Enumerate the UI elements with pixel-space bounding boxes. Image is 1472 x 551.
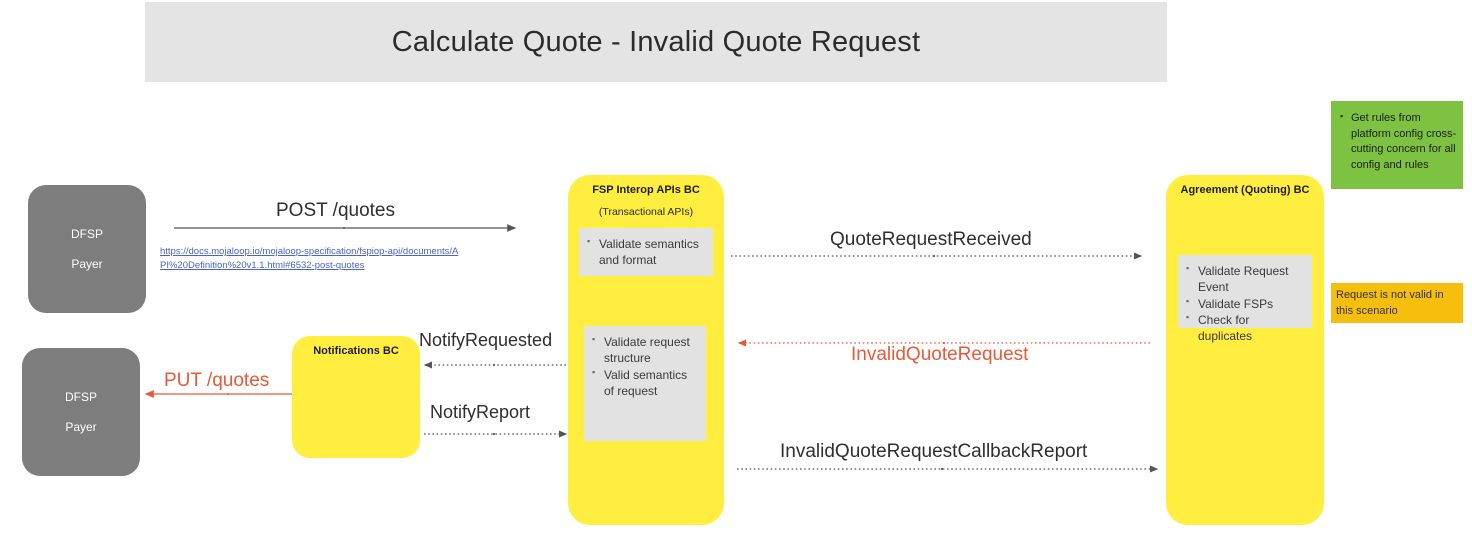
lane-subtitle: (Transactional APIs) bbox=[568, 206, 724, 218]
actor-label-line1: DFSP bbox=[65, 391, 97, 403]
lane-title: Agreement (Quoting) BC bbox=[1166, 184, 1324, 196]
arrow-label-put-quotes: PUT /quotes bbox=[164, 370, 269, 392]
diagram-canvas: Calculate Quote - Invalid Quote Request bbox=[0, 0, 1472, 551]
arrow-label-post-quotes: POST /quotes bbox=[276, 200, 395, 222]
note-item: Validate Request Event bbox=[1198, 263, 1306, 296]
arrow-quote-request-received bbox=[731, 255, 1141, 257]
note-item: Validate request structure bbox=[604, 334, 700, 367]
arrow-label-quote-request-received: QuoteRequestReceived bbox=[830, 229, 1032, 251]
page-title: Calculate Quote - Invalid Quote Request bbox=[392, 26, 920, 59]
note-item: Check for duplicates bbox=[1198, 312, 1306, 345]
title-banner: Calculate Quote - Invalid Quote Request bbox=[145, 2, 1167, 82]
note-validate-semantics-format: Validate semantics and format bbox=[579, 228, 713, 276]
arrow-put-quotes bbox=[146, 393, 292, 395]
note-item: Valid semantics of request bbox=[604, 367, 700, 400]
note-item: Validate semantics and format bbox=[599, 236, 707, 269]
lane-title: FSP Interop APIs BC bbox=[568, 184, 724, 196]
actor-dfsp-payer-bottom: DFSP Payer bbox=[22, 348, 140, 476]
arrow-label-invalid-quote-request: InvalidQuoteRequest bbox=[851, 344, 1028, 366]
link-fspiop-post-quotes-spec[interactable]: https://docs.mojaloop.io/mojaloop-specif… bbox=[160, 245, 460, 273]
arrow-label-invalid-quote-request-callback-report: InvalidQuoteRequestCallbackReport bbox=[780, 441, 1087, 463]
arrow-post-quotes bbox=[174, 227, 515, 229]
arrow-label-notify-requested: NotifyRequested bbox=[419, 330, 552, 351]
callout-orange-invalid-request: Request is not valid in this scenario bbox=[1331, 283, 1463, 323]
callout-text: Request is not valid in this scenario bbox=[1336, 289, 1444, 317]
arrow-notify-requested bbox=[425, 364, 566, 366]
note-item: Validate FSPs bbox=[1198, 296, 1306, 312]
callout-green-platform-config: Get rules from platform config cross-cut… bbox=[1331, 101, 1463, 189]
note-validate-request: Validate request structure Valid semanti… bbox=[584, 326, 706, 441]
actor-label-line2: Payer bbox=[71, 258, 102, 270]
actor-label-line2: Payer bbox=[65, 421, 96, 433]
note-agreement-validations: Validate Request Event Validate FSPs Che… bbox=[1178, 255, 1312, 328]
arrow-notify-report bbox=[424, 433, 566, 435]
arrow-label-notify-report: NotifyReport bbox=[430, 402, 530, 423]
callout-item: Get rules from platform config cross-cut… bbox=[1351, 111, 1457, 173]
lane-notifications-bc: Notifications BC bbox=[292, 336, 420, 458]
lane-title: Notifications BC bbox=[292, 345, 420, 357]
actor-dfsp-payer-top: DFSP Payer bbox=[28, 185, 146, 313]
actor-label-line1: DFSP bbox=[71, 228, 103, 240]
arrow-invalid-quote-request-callback-report bbox=[737, 468, 1157, 470]
lane-agreement-quoting-bc: Agreement (Quoting) BC bbox=[1166, 175, 1324, 525]
